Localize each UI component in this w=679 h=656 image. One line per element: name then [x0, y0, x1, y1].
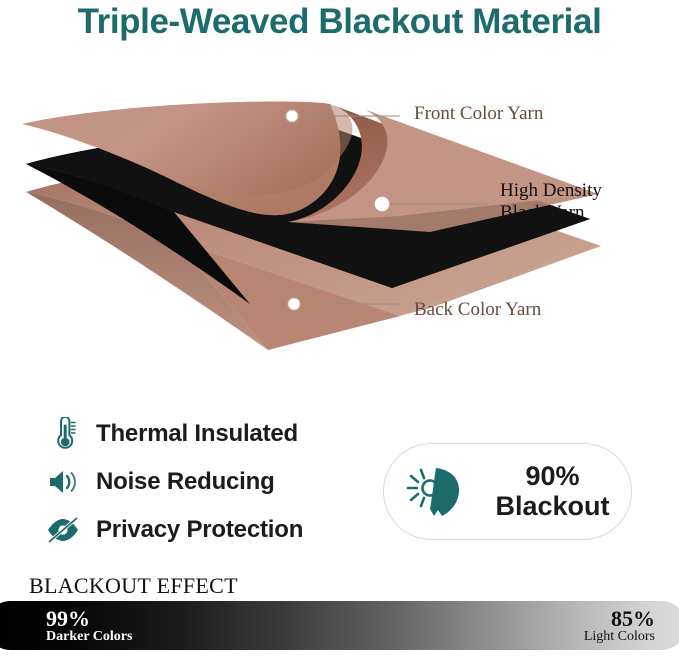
effect-darker-percent: 99%: [46, 607, 132, 630]
sun-blocked-icon: [400, 459, 476, 525]
effect-darker-colors: 99% Darker Colors: [46, 607, 132, 645]
callout-black-line-1: High Density: [500, 180, 650, 202]
callout-front-color-yarn: Front Color Yarn: [414, 103, 543, 125]
effect-light-percent: 85%: [584, 607, 655, 630]
callout-black-line-2: Black Yarn: [500, 202, 650, 224]
feature-noise-reducing: Noise Reducing: [44, 458, 364, 506]
callout-high-density-black-yarn: High Density Black Yarn: [500, 180, 650, 225]
feature-thermal-insulated: Thermal Insulated: [44, 410, 364, 458]
eye-slash-icon: [44, 511, 82, 549]
effect-darker-label: Darker Colors: [46, 630, 132, 645]
blackout-effect-heading: BLACKOUT EFFECT: [29, 573, 238, 599]
feature-privacy-protection: Privacy Protection: [44, 506, 364, 554]
thermometer-icon: [44, 415, 82, 453]
page-title: Triple-Weaved Blackout Material: [0, 2, 679, 42]
badge-text: 90% Blackout: [484, 462, 631, 521]
effect-light-colors: 85% Light Colors: [584, 607, 655, 645]
blackout-badge: 90% Blackout: [383, 443, 632, 540]
badge-word: Blackout: [484, 492, 621, 522]
callout-back-color-yarn: Back Color Yarn: [414, 299, 541, 321]
effect-light-label: Light Colors: [584, 630, 655, 645]
feature-label-thermal-insulated: Thermal Insulated: [96, 420, 298, 448]
feature-label-privacy-protection: Privacy Protection: [96, 516, 303, 544]
feature-label-noise-reducing: Noise Reducing: [96, 468, 275, 496]
speaker-icon: [44, 463, 82, 501]
badge-percent: 90%: [484, 462, 621, 492]
feature-list: Thermal Insulated Noise Reducing Privacy…: [44, 410, 364, 554]
